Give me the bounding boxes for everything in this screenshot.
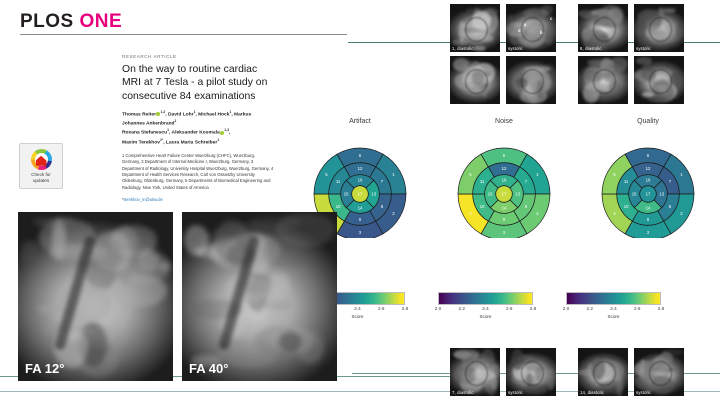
author-4-sup: 1 <box>175 119 177 123</box>
bullseye-panel-noise: Noise1234567891011121314151617 <box>432 118 576 248</box>
mri-annotation-c: c <box>550 16 552 21</box>
author-8: , Laura Maria Schreiber <box>163 140 217 145</box>
plos-one-logo: PLOS ONE <box>20 12 122 31</box>
mri-tile: abcdsystolic <box>506 4 556 52</box>
bullseye-segment-label-10: 10 <box>624 204 629 209</box>
mri-tile-label: 14, diastolic <box>580 390 604 395</box>
mri-tile: systolic <box>506 348 556 396</box>
mri-texture <box>642 92 654 97</box>
mri-tile: 1, diastolic <box>450 4 500 52</box>
fa-mri-texture <box>279 332 301 352</box>
mri-texture <box>648 96 666 101</box>
mri-texture <box>491 364 500 378</box>
author-5: Roxana Stefanescu <box>122 131 167 136</box>
bullseye-title: Quality <box>576 118 720 125</box>
colorbar-tick: 2.8 <box>402 306 408 311</box>
logo-one: ONE <box>80 11 123 32</box>
fa-mri-texture <box>212 319 223 327</box>
mri-tile: systolic <box>634 4 684 52</box>
mri-tile-label: systolic <box>636 46 651 51</box>
bullseye-figure-group: Artifact1234567891011121314151617Noise12… <box>288 118 720 248</box>
author-6: , Aleksander Kosmala <box>169 131 220 136</box>
mri-tile-label: 7, diastolic <box>452 390 474 395</box>
fa-mri-texture <box>33 217 74 227</box>
colorbar-noise: 2.02.22.42.62.8 Score <box>438 292 533 319</box>
colorbar-tick: 2.4 <box>482 306 488 311</box>
bullseye-segment-label-13: 13 <box>515 192 520 197</box>
colorbar-quality: 2.02.22.42.62.8 Score <box>566 292 661 319</box>
colorbar-tick: 2.2 <box>587 306 593 311</box>
colorbar-tick: 2.8 <box>658 306 664 311</box>
colorbar-tick: 2.6 <box>378 306 384 311</box>
bullseye-title: Noise <box>432 118 576 125</box>
mri-tile: 7, diastolic <box>450 348 500 396</box>
header-divider <box>20 34 347 35</box>
fa-mri-texture <box>20 240 36 263</box>
author-8-sup: 1 <box>217 138 219 142</box>
colorbar-tick: 2.4 <box>354 306 360 311</box>
colorbar-tick: 2.8 <box>530 306 536 311</box>
fa-mri-texture <box>111 275 167 307</box>
author-7: Maxim Terekhov <box>122 140 160 145</box>
bullseye-segment-label-12: 12 <box>358 166 363 171</box>
corresponding-email-text: terekhov_m@ukw.de <box>124 197 163 202</box>
article-title: On the way to routine cardiac MRI at 7 T… <box>122 63 274 103</box>
mri-tile: 14, diastolic <box>578 348 628 396</box>
bullseye-segment-label-15: 15 <box>344 192 349 197</box>
author-3: , Michael Hock <box>195 113 229 118</box>
mri-tile-label: systolic <box>636 390 651 395</box>
mri-tile-label: 1, diastolic <box>452 46 474 51</box>
bullseye-segment-label-11: 11 <box>480 179 485 184</box>
fa-mri-texture <box>275 213 335 246</box>
colorbar-tick: 2.4 <box>610 306 616 311</box>
colorbar-ticks-quality: 2.02.22.42.62.8 <box>566 306 661 315</box>
corresponding-email[interactable]: *terekhov_m@ukw.de <box>122 197 274 203</box>
author-2: , David Lohr <box>165 113 193 118</box>
fa-mri-texture <box>37 305 61 313</box>
mri-tile <box>506 56 556 104</box>
bullseye-segment-label-14: 14 <box>358 205 363 210</box>
slide-canvas: PLOS ONE Check for updates RESEARCH ARTI… <box>0 0 720 405</box>
mri-texture <box>636 57 652 65</box>
bullseye-panel-quality: Quality1234567891011121314151617 <box>576 118 720 248</box>
colorbar-tick: 2.0 <box>435 306 441 311</box>
fa-mri-texture <box>270 274 290 295</box>
author-list: Thomas Reiter1,2, David Lohr1, Michael H… <box>122 110 274 147</box>
fa-panel-40: FA 40° <box>182 212 337 381</box>
colorbar-tick: 2.6 <box>634 306 640 311</box>
bullseye-segment-label-11: 11 <box>624 179 629 184</box>
mri-tile-label: systolic <box>508 46 523 51</box>
colorbar-gradient-noise <box>438 292 533 305</box>
mri-texture <box>612 390 619 396</box>
bullseye-segment-label-12: 12 <box>502 166 507 171</box>
bullseye-segment-label-16: 16 <box>646 178 651 183</box>
mri-annotation-d: d <box>518 28 521 33</box>
mri-annotations: abcd <box>506 4 556 52</box>
mri-tile <box>450 56 500 104</box>
fa-panel-12-label: FA 12° <box>25 361 64 376</box>
colorbar-tick: 2.0 <box>563 306 569 311</box>
bullseye-svg: 1234567891011121314151617 <box>576 118 720 238</box>
mri-tile-label: 8, diastolic <box>580 46 602 51</box>
author-6-sup: 1,3 <box>224 128 229 132</box>
affiliations: 1 Comprehensive Heart Failure Center Wue… <box>122 153 274 191</box>
fa-mri-texture <box>265 301 291 310</box>
bullseye-segment-label-15: 15 <box>488 192 493 197</box>
fa-panel-40-label: FA 40° <box>189 361 228 376</box>
bullseye-segment-label-14: 14 <box>502 205 507 210</box>
bullseye-segment-label-16: 16 <box>502 178 507 183</box>
article-text-block: RESEARCH ARTICLE On the way to routine c… <box>122 54 274 203</box>
mri-texture <box>676 24 682 39</box>
check-for-updates-badge[interactable]: Check for updates <box>19 143 63 189</box>
mri-texture <box>609 57 628 72</box>
bullseye-title: Artifact <box>288 118 432 125</box>
bullseye-svg: 1234567891011121314151617 <box>432 118 576 238</box>
mri-texture <box>525 384 547 393</box>
colorbar-ticks-noise: 2.02.22.42.62.8 <box>438 306 533 315</box>
fa-mri-texture <box>266 290 280 330</box>
colorbar-tick: 2.6 <box>506 306 512 311</box>
bullseye-segment-label-12: 12 <box>646 166 651 171</box>
bullseye-segment-label-17: 17 <box>502 192 507 197</box>
mri-tile: systolic <box>634 348 684 396</box>
bullseye-segment-label-10: 10 <box>336 204 341 209</box>
bullseye-segment-label-17: 17 <box>358 192 363 197</box>
bullseye-segment-label-16: 16 <box>358 178 363 183</box>
crossmark-label-line2: updates <box>31 178 51 184</box>
mri-tile: 8, diastolic <box>578 4 628 52</box>
article-kicker: RESEARCH ARTICLE <box>122 54 274 59</box>
bullseye-segment-label-15: 15 <box>632 192 637 197</box>
mri-annotation-b: b <box>540 30 543 35</box>
bullseye-segment-label-11: 11 <box>336 179 341 184</box>
bullseye-segment-label-10: 10 <box>480 204 485 209</box>
logo-plos: PLOS <box>20 11 74 32</box>
mri-tile <box>578 56 628 104</box>
orcid-icon[interactable] <box>156 112 160 116</box>
fa-panel-12: * FA 12° <box>18 212 173 381</box>
bullseye-segment-label-17: 17 <box>646 192 651 197</box>
mri-annotation-a: a <box>524 22 526 27</box>
colorbar-gradient-quality <box>566 292 661 305</box>
mri-tile <box>634 56 684 104</box>
bullseye-segment-label-13: 13 <box>371 192 376 197</box>
crossmark-label-line1: Check for <box>31 172 51 178</box>
author-1: Thomas Reiter <box>122 113 156 118</box>
bullseye-segment-label-14: 14 <box>646 205 651 210</box>
colorbar-tick: 2.2 <box>459 306 465 311</box>
bullseye-segment-label-13: 13 <box>659 192 664 197</box>
mri-tile-label: systolic <box>508 390 523 395</box>
